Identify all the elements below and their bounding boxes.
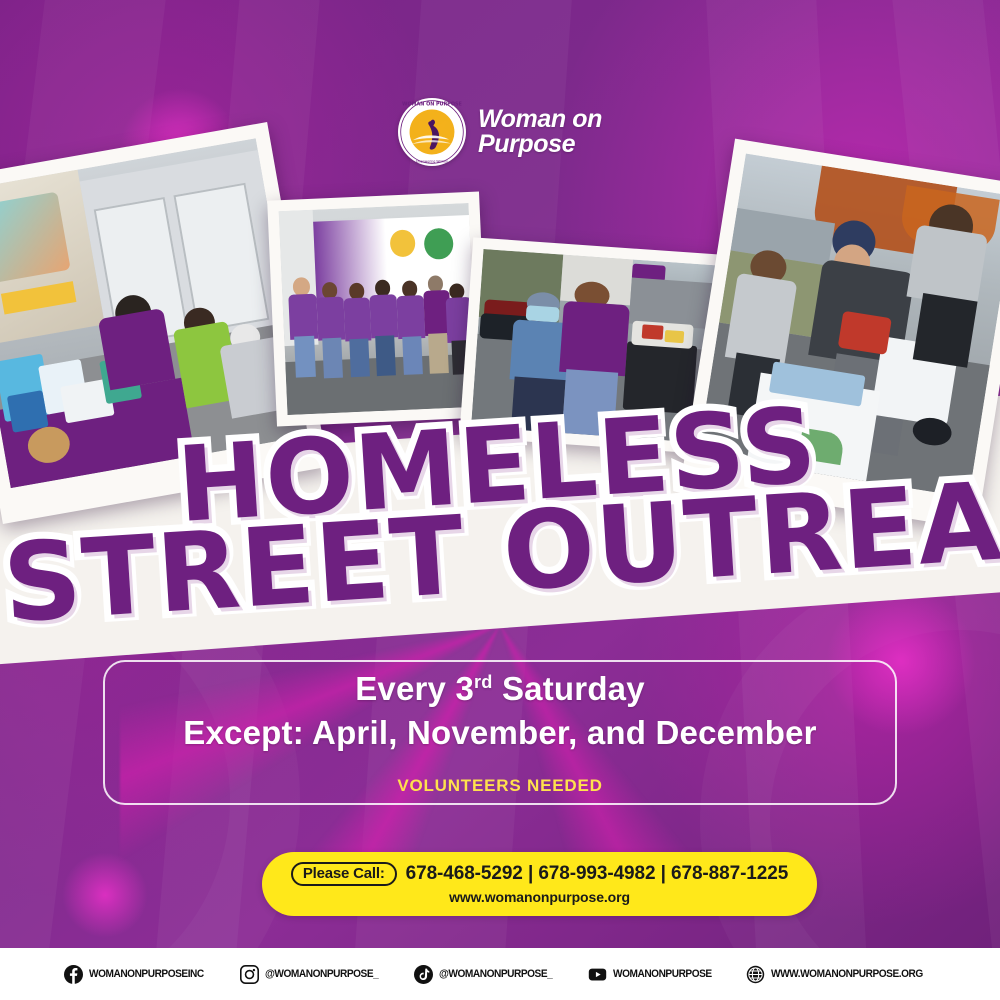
social-item-website[interactable]: WWW.WOMANONPURPOSE.ORG (746, 965, 936, 984)
poster-canvas: WOMAN ON PURPOSE Empowering Women Woman … (0, 0, 1000, 1000)
brand-logo: WOMAN ON PURPOSE Empowering Women Woman … (0, 98, 1000, 166)
schedule-info-box: Every 3rd Saturday Except: April, Novemb… (103, 660, 897, 805)
brand-name-line1: Woman on (478, 107, 602, 133)
tiktok-icon[interactable] (414, 965, 433, 984)
social-item-instagram[interactable]: @WOMANONPURPOSE_ (240, 965, 388, 984)
volunteers-needed-label: VOLUNTEERS NEEDED (397, 776, 602, 796)
globe-icon[interactable] (746, 965, 765, 984)
social-label-facebook: WOMANONPURPOSEINC (89, 968, 204, 980)
social-item-facebook[interactable]: WOMANONPURPOSEINC (64, 965, 214, 984)
schedule-prefix: Every 3 (355, 670, 474, 707)
social-label-website: WWW.WOMANONPURPOSE.ORG (771, 968, 923, 980)
social-label-instagram: @WOMANONPURPOSE_ (265, 968, 378, 980)
social-label-tiktok: @WOMANONPURPOSE_ (439, 968, 552, 980)
brand-name-line2: Purpose (478, 132, 602, 158)
background-glow-dot (62, 852, 148, 938)
instagram-icon[interactable] (240, 965, 259, 984)
photo-volunteer-group (267, 191, 489, 426)
schedule-suffix: Saturday (493, 670, 645, 707)
brand-name: Woman on Purpose (478, 107, 602, 158)
woman-silhouette-sunrise-icon: WOMAN ON PURPOSE Empowering Women (398, 98, 466, 166)
website-link[interactable]: www.womanonpurpose.org (449, 889, 630, 905)
facebook-icon[interactable] (64, 965, 83, 984)
exception-line: Except: April, November, and December (183, 714, 816, 752)
social-label-youtube: WOMANONPURPOSE (613, 968, 712, 980)
contact-call-bar[interactable]: Please Call: 678-468-5292 | 678-993-4982… (262, 852, 817, 916)
schedule-line: Every 3rd Saturday (355, 670, 645, 708)
contact-phone-row: Please Call: 678-468-5292 | 678-993-4982… (291, 862, 788, 886)
social-footer-bar: WOMANONPURPOSEINC @WOMANONPURPOSE_ @WOMA… (0, 948, 1000, 1000)
youtube-icon[interactable] (588, 965, 607, 984)
svg-text:Empowering Women: Empowering Women (416, 160, 448, 164)
please-call-pill: Please Call: (291, 862, 397, 886)
social-item-tiktok[interactable]: @WOMANONPURPOSE_ (414, 965, 562, 984)
phone-numbers[interactable]: 678-468-5292 | 678-993-4982 | 678-887-12… (406, 863, 789, 885)
schedule-ordinal: rd (474, 672, 493, 692)
svg-text:WOMAN ON PURPOSE: WOMAN ON PURPOSE (402, 101, 462, 107)
social-item-youtube[interactable]: WOMANONPURPOSE (588, 965, 720, 984)
